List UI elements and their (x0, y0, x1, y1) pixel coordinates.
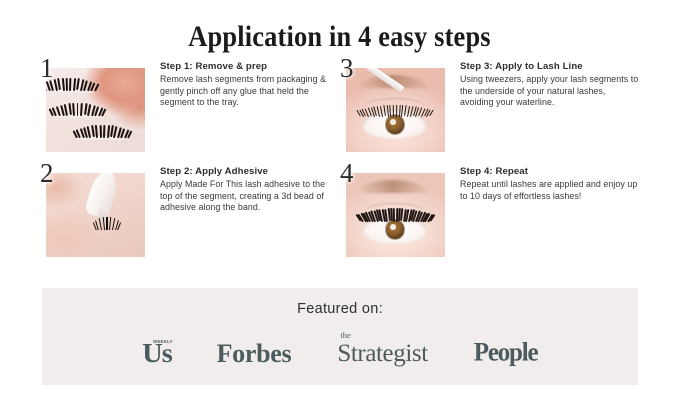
step-item-2: 2 Step 2: Apply Adhesive Apply Made For … (42, 165, 342, 269)
step-2-photo (46, 173, 145, 257)
eyebrow-shape (358, 180, 427, 193)
iris-shape (386, 115, 405, 133)
step-4-body: Repeat until lashes are applied and enjo… (460, 179, 640, 202)
people-logo: People (474, 339, 538, 367)
tweezer-application-image (346, 68, 445, 152)
step-4-number: 4 (340, 160, 354, 187)
strategist-logo: the Strategist (337, 340, 427, 367)
step-2-body: Apply Made For This lash adhesive to the… (160, 179, 340, 214)
step-1-text: Step 1: Remove & prep Remove lash segmen… (160, 60, 340, 109)
step-1-photo (46, 68, 145, 152)
step-3-photo (346, 68, 445, 152)
iris-shape (386, 220, 405, 238)
strategist-logo-text: Strategist (337, 340, 427, 367)
step-4-photo-wrap: 4 (342, 169, 445, 257)
step-2-number: 2 (40, 160, 54, 187)
step-3-text: Step 3: Apply to Lash Line Using tweezer… (460, 60, 640, 109)
adhesive-application-image (46, 173, 145, 257)
step-3-number: 3 (340, 55, 354, 82)
step-1-number: 1 (40, 55, 54, 82)
step-2-title: Step 2: Apply Adhesive (160, 165, 340, 178)
strategist-logo-superscript: the (340, 331, 350, 340)
step-4-title: Step 4: Repeat (460, 165, 640, 178)
step-item-4: 4 Step 4: Repeat Repeat until lashes are… (342, 165, 642, 269)
lash-line-shape (360, 105, 429, 117)
featured-on-band: Featured on: Us WEEKLY Forbes the Strate… (42, 288, 638, 385)
step-3-title: Step 3: Apply to Lash Line (460, 60, 640, 73)
step-4-photo (346, 173, 445, 257)
step-2-text: Step 2: Apply Adhesive Apply Made For Th… (160, 165, 340, 214)
people-logo-text: People (474, 339, 538, 367)
forbes-logo-text: Forbes (217, 340, 292, 367)
page-title: Application in 4 easy steps (41, 20, 639, 54)
step-2-photo-wrap: 2 (42, 169, 145, 257)
us-weekly-logo: Us WEEKLY (142, 340, 171, 367)
step-3-body: Using tweezers, apply your lash segments… (460, 74, 640, 109)
steps-grid: 1 Step 1: Remove & prep Remove lash segm… (42, 60, 642, 268)
step-1-body: Remove lash segments from packaging & ge… (160, 74, 340, 109)
us-weekly-logo-superscript: WEEKLY (153, 339, 173, 344)
finished-lashes-image (346, 173, 445, 257)
lash-line-shape (360, 210, 429, 222)
featured-on-label: Featured on: (42, 300, 638, 318)
lash-tray-image (46, 68, 145, 152)
forbes-logo: Forbes (217, 340, 292, 367)
step-item-3: 3 Step 3: Apply to Lash Line Using tweez… (342, 60, 642, 164)
step-1-photo-wrap: 1 (42, 64, 145, 152)
step-3-photo-wrap: 3 (342, 64, 445, 152)
featured-logo-row: Us WEEKLY Forbes the Strategist People (42, 330, 638, 376)
lash-segment-shape (96, 217, 118, 230)
product-info-graphic: Application in 4 easy steps 1 Step 1: Re… (0, 0, 679, 420)
step-4-text: Step 4: Repeat Repeat until lashes are a… (460, 165, 640, 202)
step-1-title: Step 1: Remove & prep (160, 60, 340, 73)
us-weekly-logo-text: Us (142, 340, 171, 367)
step-item-1: 1 Step 1: Remove & prep Remove lash segm… (42, 60, 342, 164)
